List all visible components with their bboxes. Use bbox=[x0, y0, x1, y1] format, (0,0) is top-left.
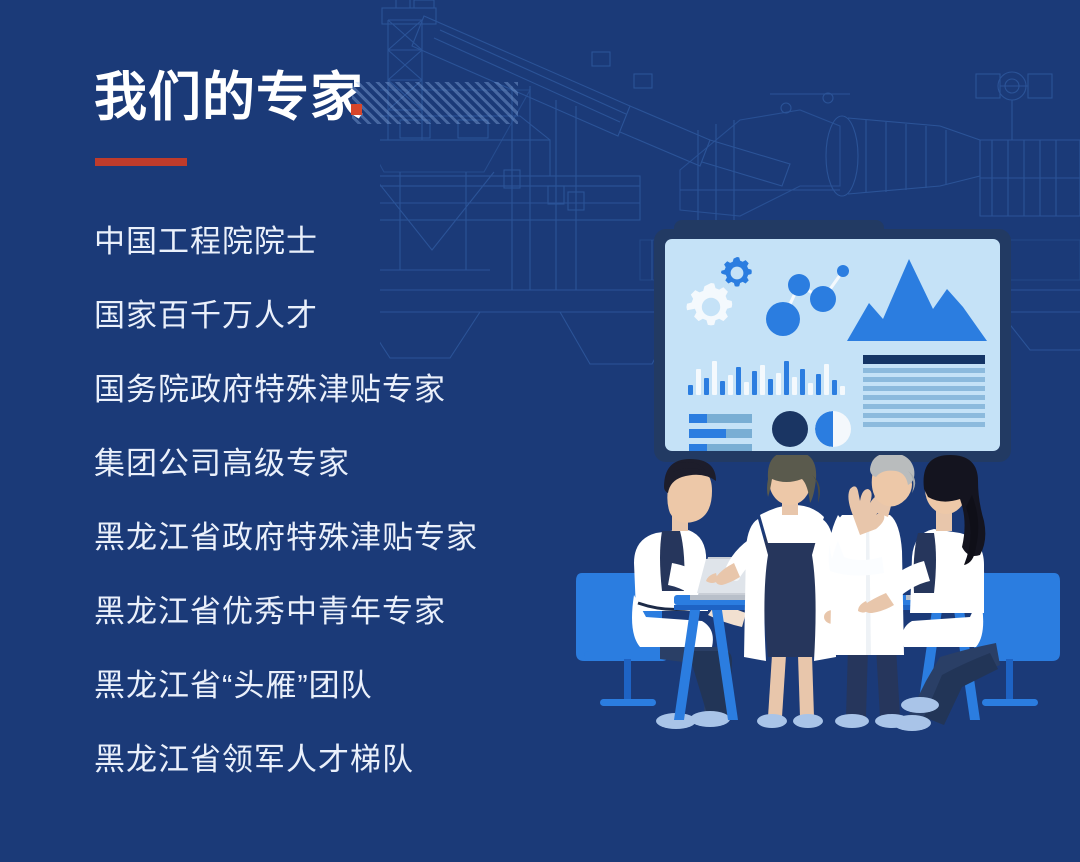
gear-icon-large bbox=[683, 279, 739, 340]
table-row bbox=[863, 386, 985, 391]
table-row bbox=[863, 413, 985, 418]
table-row bbox=[863, 368, 985, 373]
progress-bar bbox=[689, 444, 752, 451]
equalizer-bar bbox=[752, 371, 757, 395]
equalizer-bar bbox=[760, 365, 765, 395]
heading-block: 我们的专家 bbox=[94, 62, 564, 177]
equalizer-bar bbox=[696, 369, 701, 395]
credential-list: 中国工程院院士 国家百千万人才 国务院政府特殊津贴专家 集团公司高级专家 黑龙江… bbox=[94, 205, 614, 797]
team-of-experts-illustration bbox=[576, 455, 1080, 755]
table-header-bar bbox=[863, 355, 985, 364]
list-item: 集团公司高级专家 bbox=[94, 427, 614, 501]
network-nodes-graph bbox=[757, 255, 853, 356]
equalizer-bar bbox=[784, 361, 789, 395]
table-row bbox=[863, 395, 985, 400]
page-title: 我们的专家 bbox=[94, 68, 364, 128]
analytics-dashboard-card bbox=[654, 229, 1011, 462]
table-row bbox=[863, 377, 985, 382]
progress-bar bbox=[689, 414, 752, 423]
red-underline-rule bbox=[95, 158, 187, 166]
list-item: 黑龙江省政府特殊津贴专家 bbox=[94, 501, 614, 575]
list-item: 国务院政府特殊津贴专家 bbox=[94, 353, 614, 427]
equalizer-bar bbox=[808, 383, 813, 395]
list-item: 黑龙江省优秀中青年专家 bbox=[94, 575, 614, 649]
table-row bbox=[863, 422, 985, 427]
equalizer-bar bbox=[712, 361, 717, 395]
diagonal-hatch-decoration bbox=[352, 82, 518, 124]
audio-equalizer-bars bbox=[688, 357, 848, 395]
dashboard-screen bbox=[665, 239, 1000, 451]
equalizer-bar bbox=[688, 385, 693, 395]
list-item: 黑龙江省“头雁”团队 bbox=[94, 649, 614, 723]
list-item: 国家百千万人才 bbox=[94, 279, 614, 353]
equalizer-bar bbox=[832, 380, 837, 395]
equalizer-bar bbox=[776, 373, 781, 395]
half-pie-chart bbox=[815, 411, 851, 447]
equalizer-bar bbox=[768, 379, 773, 395]
equalizer-bar bbox=[720, 381, 725, 395]
equalizer-bar bbox=[824, 364, 829, 395]
equalizer-bar bbox=[792, 377, 797, 395]
equalizer-bar bbox=[816, 374, 821, 395]
progress-bar bbox=[689, 429, 752, 438]
list-item: 中国工程院院士 bbox=[94, 205, 614, 279]
equalizer-bar bbox=[744, 382, 749, 395]
equalizer-bar bbox=[736, 367, 741, 395]
poster-canvas: 我们的专家 中国工程院院士 国家百千万人才 国务院政府特殊津贴专家 集团公司高级… bbox=[0, 0, 1080, 862]
table-row bbox=[863, 404, 985, 409]
equalizer-bar bbox=[728, 375, 733, 395]
equalizer-bar bbox=[840, 386, 845, 395]
dark-circle-chart bbox=[772, 411, 808, 447]
list-item: 黑龙江省领军人才梯队 bbox=[94, 723, 614, 797]
red-square-marker bbox=[351, 104, 362, 115]
equalizer-bar bbox=[800, 369, 805, 395]
equalizer-bar bbox=[704, 378, 709, 395]
data-table-lines bbox=[863, 355, 985, 431]
mountain-area-chart bbox=[847, 253, 987, 350]
progress-bars bbox=[689, 414, 754, 451]
